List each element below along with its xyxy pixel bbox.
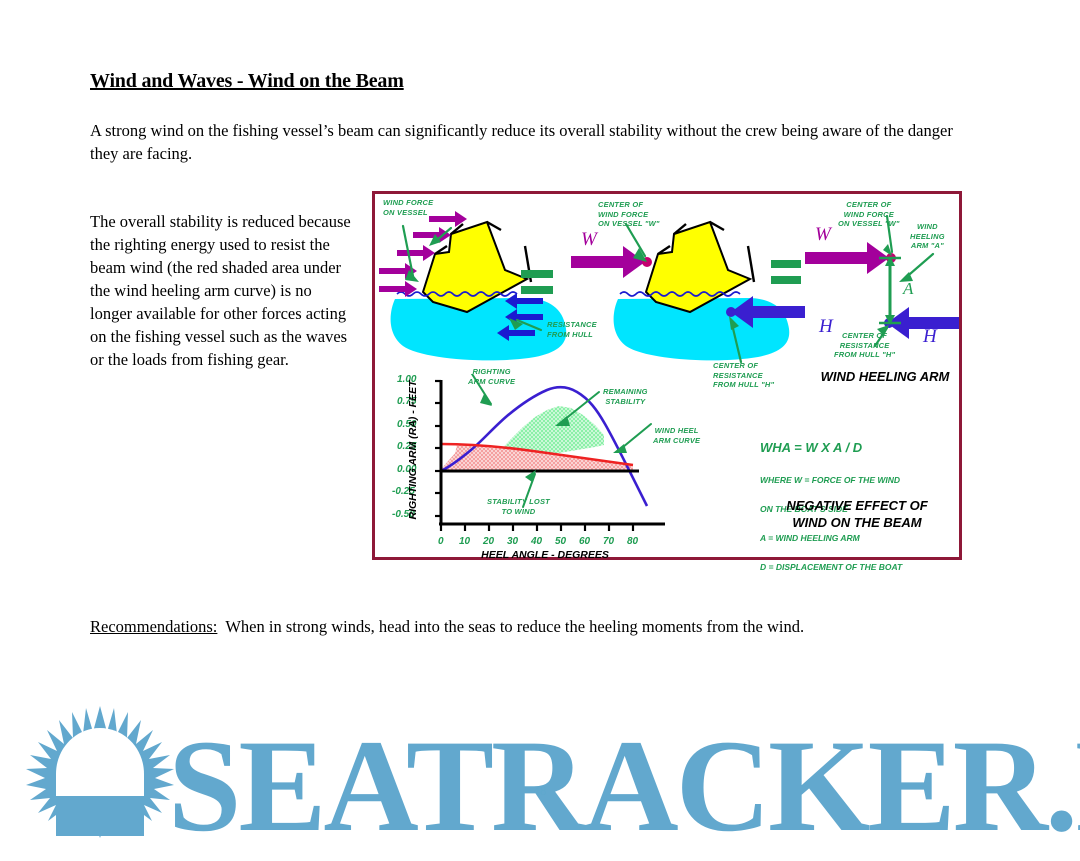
watermark-artwork: SEATRACKER.RU: [0, 690, 1080, 856]
h-symbol-panel3: H: [923, 326, 937, 348]
x-axis-title: HEEL ANGLE - DEGREES: [435, 549, 655, 561]
annotation-wind-heel-arm-curve: WIND HEEL ARM CURVE: [653, 426, 700, 445]
sun-logo-icon: [26, 706, 174, 838]
page-title: Wind and Waves - Wind on the Beam: [90, 70, 404, 93]
x-tick-5: 40: [531, 536, 542, 547]
wha-line-4: D = DISPLACEMENT OF THE BOAT: [760, 562, 902, 573]
recommendation-label: Recommendations:: [90, 617, 217, 636]
intro-paragraph: A strong wind on the fishing vessel’s be…: [90, 119, 962, 165]
label-resistance-from-hull: RESISTANCE FROM HULL: [547, 320, 597, 339]
page-root: Wind and Waves - Wind on the Beam A stro…: [0, 0, 1080, 856]
label-center-wind-force-panel2: CENTER OF WIND FORCE ON VESSEL "W": [598, 200, 660, 229]
page-number: 48: [0, 783, 1080, 799]
label-center-wind-force-panel3: CENTER OF WIND FORCE ON VESSEL "W": [838, 200, 900, 229]
wind-force-arrow-panel3: [805, 242, 889, 274]
recommendation-text: When in strong winds, head into the seas…: [225, 617, 804, 636]
x-tick-8: 70: [603, 536, 614, 547]
recommendation-block: Recommendations: When in strong winds, h…: [90, 615, 980, 638]
annotation-righting-arm-curve: RIGHTING ARM CURVE: [468, 367, 515, 386]
equals-sign-2: [771, 260, 801, 284]
equals-sign-1: [521, 270, 553, 294]
w-symbol-panel3: W: [815, 224, 831, 246]
label-wind-force-on-vessel: WIND FORCE ON VESSEL: [383, 198, 433, 217]
wind-heeling-arm-arrow: [879, 256, 901, 325]
x-tick-9: 80: [627, 536, 638, 547]
watermark: SEATRACKER.RU: [0, 690, 1080, 856]
label-wind-heeling-arm: WIND HEELING ARM "A": [910, 222, 945, 251]
wha-line-1: WHERE W = FORCE OF THE WIND: [760, 475, 902, 486]
x-tick-2: 10: [459, 536, 470, 547]
x-tick-1: 0: [438, 536, 444, 547]
a-symbol-panel3: A: [903, 279, 913, 299]
side-paragraph: The overall stability is reduced because…: [90, 210, 352, 371]
label-center-resistance-panel2: CENTER OF RESISTANCE FROM HULL "H": [713, 361, 774, 390]
annotation-remaining-stability: REMAINING STABILITY: [603, 387, 648, 406]
wha-equation: WHA = W X A / D: [760, 440, 902, 455]
label-center-resistance-panel3: CENTER OF RESISTANCE FROM HULL "H": [834, 331, 895, 360]
caption-negative-effect: NEGATIVE EFFECT OF WIND ON THE BEAM: [757, 497, 957, 531]
wha-line-3: A = WIND HEELING ARM: [760, 533, 902, 544]
center-resistance-dot-panel2: [726, 307, 736, 317]
annotation-stability-lost: STABILITY LOST TO WIND: [487, 497, 550, 516]
stability-figure: WIND FORCE ON VESSEL RESISTANCE FROM HUL…: [372, 191, 962, 560]
x-tick-7: 60: [579, 536, 590, 547]
h-symbol-panel2: H: [819, 316, 833, 338]
x-tick-6: 50: [555, 536, 566, 547]
w-symbol-panel2: W: [581, 229, 597, 251]
y-axis-title: RIGHTING ARM (RA) - FEET: [407, 370, 419, 530]
caption-wind-heeling-arm: WIND HEELING ARM: [805, 368, 965, 385]
x-tick-3: 20: [483, 536, 494, 547]
x-tick-4: 30: [507, 536, 518, 547]
